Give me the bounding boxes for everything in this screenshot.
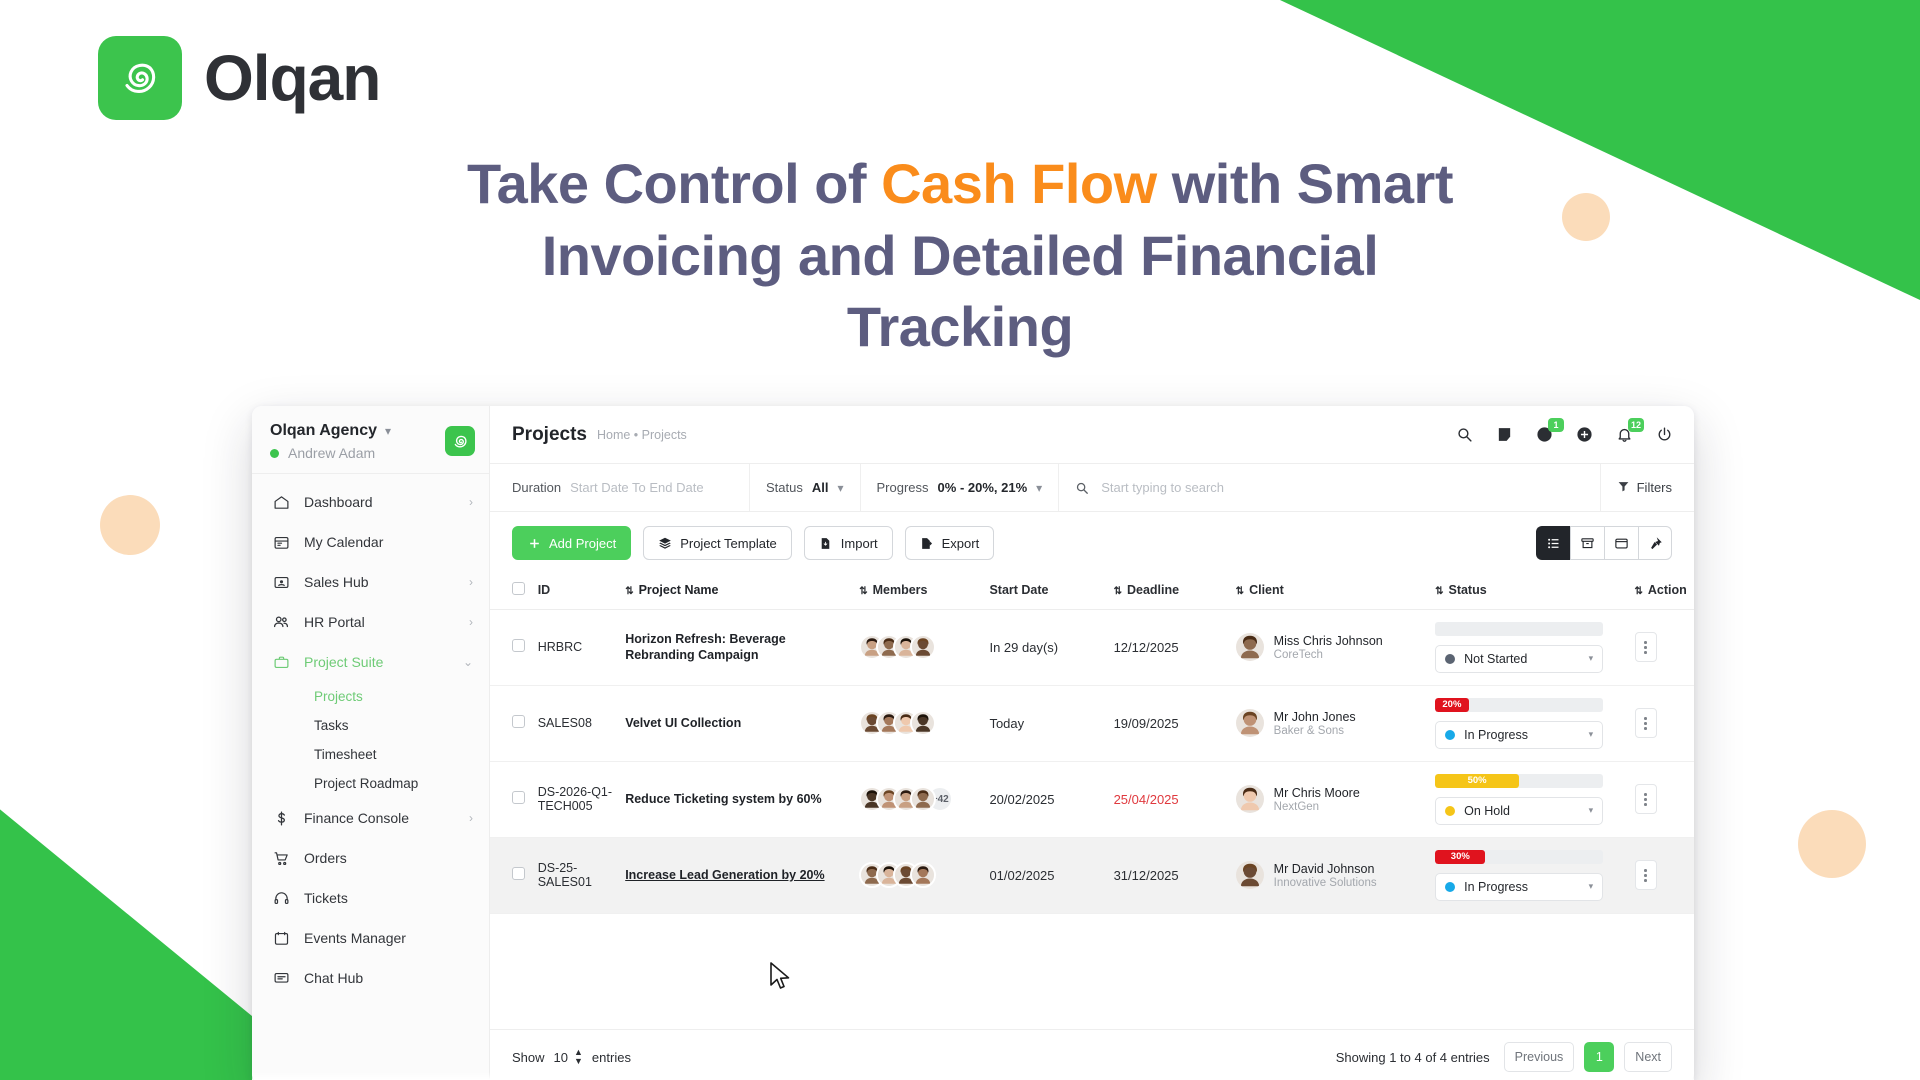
caret-down-icon: ▾: [1589, 881, 1594, 892]
client-avatar: [1236, 709, 1264, 737]
search-input[interactable]: Start typing to search: [1101, 480, 1224, 495]
org-switcher[interactable]: Olqan Agency ▾ Andrew Adam: [252, 406, 489, 474]
sort-icon: ⇅: [859, 586, 866, 597]
sort-icon: ⇅: [625, 586, 632, 597]
progress-bar: 50%: [1435, 774, 1603, 788]
progress-fill: 30%: [1435, 850, 1485, 864]
cell-action: [1629, 685, 1694, 761]
table-row[interactable]: DS-2026-Q1-TECH005Reduce Ticketing syste…: [490, 761, 1694, 837]
decorative-circle-left: [100, 495, 160, 555]
cell-status: 30%In Progress▾: [1429, 837, 1628, 913]
header-client[interactable]: ⇅Client: [1230, 572, 1429, 609]
view-toggle-group: [1536, 526, 1672, 560]
sidebar-item-events-manager[interactable]: Events Manager: [252, 918, 489, 958]
hero-line2: Invoicing and Detailed Financial: [542, 224, 1379, 287]
table-header-row: ID ⇅Project Name ⇅Members Start Date ⇅De…: [490, 572, 1694, 609]
header-start-date[interactable]: Start Date: [983, 572, 1107, 609]
cell-id: DS-2026-Q1-TECH005: [532, 761, 620, 837]
client-name: Miss Chris Johnson: [1274, 634, 1383, 648]
sidebar-nav: Dashboard › My Calendar Sales Hub ›: [252, 474, 489, 998]
row-menu-button[interactable]: [1635, 784, 1657, 814]
briefcase-icon: [272, 653, 290, 671]
status-value: In Progress: [1464, 728, 1528, 742]
decorative-circle-right-bottom: [1798, 810, 1866, 878]
show-label: Show: [512, 1050, 545, 1065]
showing-entries-text: Showing 1 to 4 of 4 entries: [1336, 1050, 1490, 1065]
sort-icon: ⇅: [1114, 586, 1121, 597]
spiral-logo-icon: [98, 36, 182, 120]
header-status[interactable]: ⇅Status: [1429, 572, 1628, 609]
caret-down-icon: ▾: [1589, 729, 1594, 740]
duration-label: Duration: [512, 480, 561, 495]
member-avatar[interactable]: [910, 710, 936, 736]
row-checkbox[interactable]: [512, 639, 525, 652]
sidebar-label: Sales Hub: [304, 574, 455, 590]
client-org: CoreTech: [1274, 649, 1383, 661]
client-avatar: [1236, 861, 1264, 889]
cell-deadline: 25/04/2025: [1108, 761, 1230, 837]
app-topbar: Projects Home • Projects 1 12: [490, 406, 1694, 464]
member-avatar[interactable]: [910, 634, 936, 660]
duration-input[interactable]: Start Date To End Date: [570, 480, 703, 495]
cell-id: HRBRC: [532, 609, 620, 685]
pagination: Showing 1 to 4 of 4 entries Previous 1 N…: [1336, 1042, 1672, 1072]
status-value: Not Started: [1464, 652, 1527, 666]
cell-members: [853, 685, 983, 761]
archive-view-icon[interactable]: [1570, 526, 1604, 560]
status-dot-icon: [1445, 882, 1455, 892]
header-id[interactable]: ID: [532, 572, 620, 609]
import-button[interactable]: Import: [804, 526, 893, 560]
status-dot-icon: [1445, 806, 1455, 816]
row-checkbox[interactable]: [512, 715, 525, 728]
status-dot-icon: [1445, 654, 1455, 664]
row-select-cell: [490, 609, 532, 685]
cart-icon: [272, 849, 290, 867]
cell-project-name[interactable]: Increase Lead Generation by 20%: [619, 837, 853, 913]
headset-icon: [272, 889, 290, 907]
cell-action: [1629, 609, 1694, 685]
progress-label: Progress: [877, 480, 929, 495]
chevron-down-icon[interactable]: ▾: [385, 424, 391, 438]
sidebar-label: Project Suite: [304, 654, 449, 670]
note-icon[interactable]: [1495, 425, 1514, 444]
people-icon: [272, 613, 290, 631]
sidebar-logo-icon: [445, 426, 475, 456]
plus-icon: [527, 536, 541, 550]
sidebar-item-finance-console[interactable]: Finance Console ›: [252, 798, 489, 838]
cell-project-name[interactable]: Reduce Ticketing system by 60%: [619, 761, 853, 837]
cell-members: [853, 609, 983, 685]
avatar-stack: [859, 862, 977, 888]
brand-name: Olqan: [204, 41, 380, 115]
cell-id: DS-25-SALES01: [532, 837, 620, 913]
sidebar-item-my-calendar[interactable]: My Calendar: [252, 522, 489, 562]
add-project-label: Add Project: [549, 536, 616, 551]
file-import-icon: [819, 536, 833, 550]
hero-line1-part2: with Smart: [1157, 152, 1453, 215]
client-avatar: [1236, 785, 1264, 813]
status-value: In Progress: [1464, 880, 1528, 894]
cell-deadline: 12/12/2025: [1108, 609, 1230, 685]
sidebar-item-orders[interactable]: Orders: [252, 838, 489, 878]
caret-down-icon: ▾: [1036, 481, 1042, 495]
cell-members: [853, 837, 983, 913]
header-status-label: Status: [1448, 583, 1486, 597]
progress-fill: 50%: [1435, 774, 1519, 788]
stepper-icon: ▲▼: [574, 1048, 583, 1066]
brand-lockup: Olqan: [98, 36, 380, 120]
caret-down-icon: ▾: [1589, 653, 1594, 664]
project-template-label: Project Template: [680, 536, 777, 551]
chevron-right-icon: ›: [469, 495, 473, 509]
user-name: Andrew Adam: [288, 445, 375, 461]
dollar-icon: [272, 809, 290, 827]
row-select-cell: [490, 685, 532, 761]
hero-accent-text: Cash Flow: [881, 152, 1157, 215]
filter-bar: Duration Start Date To End Date Status A…: [490, 464, 1694, 512]
sidebar-label: Finance Console: [304, 810, 455, 826]
header-client-label: Client: [1249, 583, 1284, 597]
entries-per-page-select[interactable]: 10 ▲▼: [554, 1048, 583, 1066]
row-checkbox[interactable]: [512, 791, 525, 804]
chevron-down-icon: ⌄: [463, 655, 473, 669]
bell-icon[interactable]: 12: [1615, 425, 1634, 444]
chevron-right-icon: ›: [469, 811, 473, 825]
client-name: Mr Chris Moore: [1274, 786, 1360, 800]
sidebar-label: Events Manager: [304, 930, 473, 946]
cell-id: SALES08: [532, 685, 620, 761]
header-members[interactable]: ⇅Members: [853, 572, 983, 609]
sidebar-item-sales-hub[interactable]: Sales Hub ›: [252, 562, 489, 602]
header-project-name[interactable]: ⇅Project Name: [619, 572, 853, 609]
entries-per-page-value: 10: [554, 1050, 568, 1065]
status-dropdown[interactable]: In Progress▾: [1435, 873, 1603, 901]
row-checkbox[interactable]: [512, 867, 525, 880]
hero-headline: Take Control of Cash Flow with Smart Inv…: [345, 148, 1575, 363]
cell-project-name[interactable]: Horizon Refresh: Beverage Rebranding Cam…: [619, 609, 853, 685]
sidebar-label: Chat Hub: [304, 970, 473, 986]
cell-client: Miss Chris JohnsonCoreTech: [1230, 609, 1429, 685]
header-deadline-label: Deadline: [1127, 583, 1179, 597]
hero-line3: Tracking: [847, 295, 1073, 358]
id-card-icon: [272, 573, 290, 591]
chevron-right-icon: ›: [469, 615, 473, 629]
clock-badge: 1: [1548, 418, 1564, 432]
progress-bar: [1435, 622, 1603, 636]
table-row[interactable]: HRBRCHorizon Refresh: Beverage Rebrandin…: [490, 609, 1694, 685]
cell-members: +42: [853, 761, 983, 837]
cell-client: Mr John JonesBaker & Sons: [1230, 685, 1429, 761]
previous-page-button[interactable]: Previous: [1504, 1042, 1575, 1072]
avatar-stack: [859, 634, 977, 660]
avatar-stack: +42: [859, 786, 977, 812]
sidebar-subitem-projects[interactable]: Projects: [252, 682, 489, 711]
cell-start-date: 01/02/2025: [983, 837, 1107, 913]
sidebar-subitem-timesheet[interactable]: Timesheet: [252, 740, 489, 769]
action-bar: Add Project Project Template Import Expo…: [490, 512, 1694, 572]
row-menu-button[interactable]: [1635, 860, 1657, 890]
cell-action: [1629, 837, 1694, 913]
table-body: HRBRCHorizon Refresh: Beverage Rebrandin…: [490, 609, 1694, 913]
board-view-icon[interactable]: [1604, 526, 1638, 560]
select-all-header: [490, 572, 532, 609]
home-icon: [272, 493, 290, 511]
progress-bar: 20%: [1435, 698, 1603, 712]
header-id-label: ID: [538, 583, 551, 597]
projects-table-wrap: ID ⇅Project Name ⇅Members Start Date ⇅De…: [490, 572, 1694, 1029]
progress-bar: 30%: [1435, 850, 1603, 864]
export-button[interactable]: Export: [905, 526, 995, 560]
client-name: Mr David Johnson: [1274, 862, 1375, 876]
table-search[interactable]: Start typing to search: [1059, 464, 1600, 511]
status-dropdown[interactable]: Not Started▾: [1435, 645, 1603, 673]
sidebar-item-project-suite[interactable]: Project Suite ⌄: [252, 642, 489, 682]
search-icon[interactable]: [1455, 425, 1474, 444]
online-status-dot: [270, 449, 279, 458]
caret-down-icon: ▾: [837, 481, 843, 495]
power-icon[interactable]: [1655, 425, 1674, 444]
app-window: Olqan Agency ▾ Andrew Adam Dashboard: [252, 406, 1694, 1080]
cell-start-date: Today: [983, 685, 1107, 761]
row-menu-button[interactable]: [1635, 708, 1657, 738]
header-start-date-label: Start Date: [989, 583, 1048, 597]
list-view-icon[interactable]: [1536, 526, 1570, 560]
status-dropdown[interactable]: In Progress▾: [1435, 721, 1603, 749]
sidebar-subitem-project-roadmap[interactable]: Project Roadmap: [252, 769, 489, 798]
header-action-label: Action: [1648, 583, 1687, 597]
row-menu-button[interactable]: [1635, 632, 1657, 662]
filters-button[interactable]: Filters: [1601, 464, 1694, 511]
sidebar-item-tickets[interactable]: Tickets: [252, 878, 489, 918]
entries-label: entries: [592, 1050, 631, 1065]
calendar-blank-icon: [272, 929, 290, 947]
cell-status: 50%On Hold▾: [1429, 761, 1628, 837]
filters-label: Filters: [1637, 480, 1672, 495]
show-entries-group: Show 10 ▲▼ entries: [512, 1048, 631, 1066]
funnel-icon: [1617, 480, 1630, 496]
org-name: Olqan Agency: [270, 422, 377, 440]
breadcrumb: Home • Projects: [597, 428, 687, 442]
cell-status: 20%In Progress▾: [1429, 685, 1628, 761]
cell-status: Not Started▾: [1429, 609, 1628, 685]
add-project-button[interactable]: Add Project: [512, 526, 631, 560]
row-select-cell: [490, 761, 532, 837]
duration-filter[interactable]: Duration Start Date To End Date: [490, 464, 750, 511]
sidebar-label: Tickets: [304, 890, 473, 906]
sidebar-label: HR Portal: [304, 614, 455, 630]
member-avatar[interactable]: [910, 862, 936, 888]
select-all-checkbox[interactable]: [512, 582, 525, 595]
main-content: Projects Home • Projects 1 12: [490, 406, 1694, 1080]
sidebar-label: Dashboard: [304, 494, 455, 510]
search-icon: [1075, 481, 1089, 495]
clock-icon[interactable]: 1: [1535, 425, 1554, 444]
sort-icon: ⇅: [1435, 586, 1442, 597]
import-label: Import: [841, 536, 878, 551]
progress-filter[interactable]: Progress 0% - 20%, 21% ▾: [861, 464, 1060, 511]
client-org: Innovative Solutions: [1274, 877, 1377, 889]
sidebar-label: My Calendar: [304, 534, 473, 550]
file-export-icon: [920, 536, 934, 550]
sidebar-label: Orders: [304, 850, 473, 866]
layers-icon: [658, 536, 672, 550]
next-page-button[interactable]: Next: [1624, 1042, 1672, 1072]
header-action[interactable]: ⇅Action: [1629, 572, 1694, 609]
cell-project-name[interactable]: Velvet UI Collection: [619, 685, 853, 761]
header-project-name-label: Project Name: [639, 583, 719, 597]
sidebar-item-dashboard[interactable]: Dashboard ›: [252, 482, 489, 522]
export-label: Export: [942, 536, 980, 551]
progress-filter-value[interactable]: 0% - 20%, 21%: [938, 480, 1028, 495]
table-row[interactable]: DS-25-SALES01Increase Lead Generation by…: [490, 837, 1694, 913]
client-org: Baker & Sons: [1274, 725, 1356, 737]
table-row[interactable]: SALES08Velvet UI CollectionToday19/09/20…: [490, 685, 1694, 761]
status-filter[interactable]: Status All ▾: [750, 464, 861, 511]
client-name: Mr John Jones: [1274, 710, 1356, 724]
bottom-fade: [252, 1072, 1694, 1080]
status-value: On Hold: [1464, 804, 1510, 818]
sidebar-item-hr-portal[interactable]: HR Portal ›: [252, 602, 489, 642]
header-members-label: Members: [873, 583, 928, 597]
page-1-button[interactable]: 1: [1584, 1042, 1614, 1072]
cell-client: Mr Chris MooreNextGen: [1230, 761, 1429, 837]
sort-icon: ⇅: [1236, 586, 1243, 597]
calendar-icon: [272, 533, 290, 551]
sidebar: Olqan Agency ▾ Andrew Adam Dashboard: [252, 406, 490, 1080]
status-dropdown[interactable]: On Hold▾: [1435, 797, 1603, 825]
pin-view-icon[interactable]: [1638, 526, 1672, 560]
cell-deadline: 19/09/2025: [1108, 685, 1230, 761]
plus-circle-icon[interactable]: [1575, 425, 1594, 444]
row-select-cell: [490, 837, 532, 913]
status-filter-value[interactable]: All: [812, 480, 829, 495]
chat-icon: [272, 969, 290, 987]
projects-table: ID ⇅Project Name ⇅Members Start Date ⇅De…: [490, 572, 1694, 914]
sort-icon: ⇅: [1635, 586, 1642, 597]
caret-down-icon: ▾: [1589, 805, 1594, 816]
bell-badge: 12: [1628, 418, 1644, 432]
topbar-icon-group: 1 12: [1455, 425, 1674, 444]
page-title: Projects: [512, 424, 587, 446]
cell-start-date: 20/02/2025: [983, 761, 1107, 837]
cell-action: [1629, 761, 1694, 837]
cell-deadline: 31/12/2025: [1108, 837, 1230, 913]
hero-line1-part1: Take Control of: [467, 152, 881, 215]
status-label: Status: [766, 480, 803, 495]
client-avatar: [1236, 633, 1264, 661]
project-template-button[interactable]: Project Template: [643, 526, 792, 560]
client-org: NextGen: [1274, 801, 1360, 813]
sidebar-item-chat-hub[interactable]: Chat Hub: [252, 958, 489, 998]
header-deadline[interactable]: ⇅Deadline: [1108, 572, 1230, 609]
chevron-right-icon: ›: [469, 575, 473, 589]
avatar-stack: [859, 710, 977, 736]
status-dot-icon: [1445, 730, 1455, 740]
sidebar-subitem-tasks[interactable]: Tasks: [252, 711, 489, 740]
progress-fill: 20%: [1435, 698, 1469, 712]
cell-client: Mr David JohnsonInnovative Solutions: [1230, 837, 1429, 913]
cell-start-date: In 29 day(s): [983, 609, 1107, 685]
